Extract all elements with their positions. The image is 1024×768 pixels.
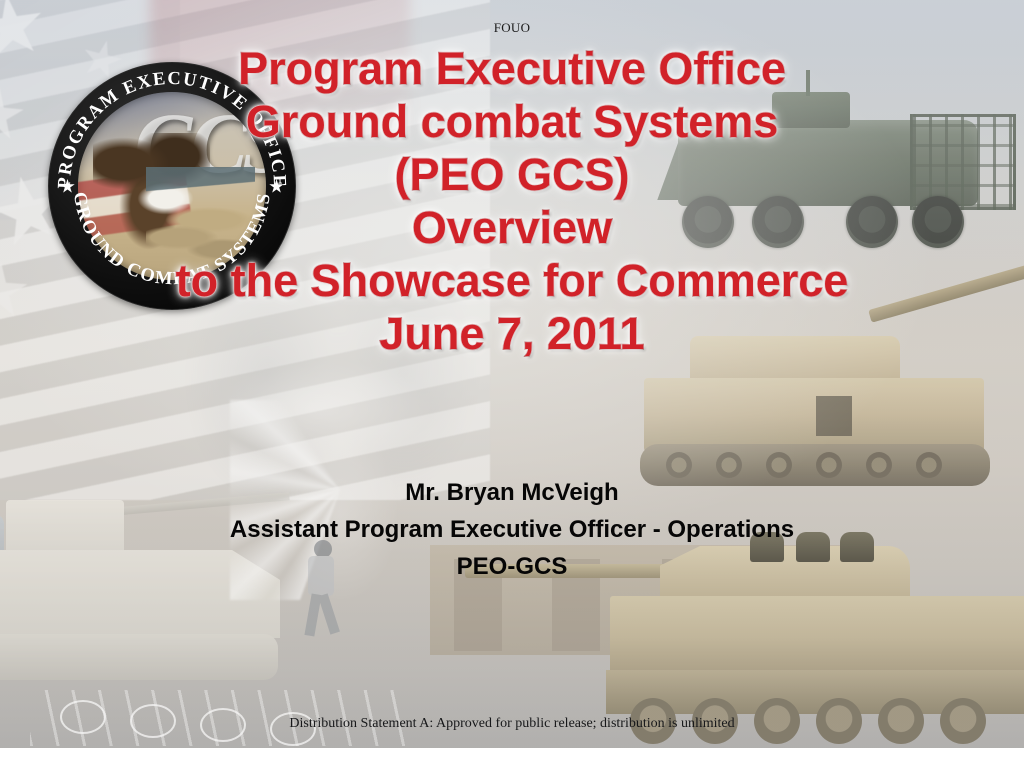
title-line-1: Program Executive Office [0,42,1024,95]
presentation-slide: FOUO GCS PROGRAM EXECUTIVE OFFICE GROUND… [0,0,1024,768]
presenter-organization: PEO-GCS [0,548,1024,585]
classification-marking: FOUO [0,20,1024,36]
presenter-block: Mr. Bryan McVeigh Assistant Program Exec… [0,474,1024,585]
slide-bottom-margin [0,748,1024,768]
title-line-4: Overview [0,201,1024,254]
title-line-6: June 7, 2011 [0,307,1024,360]
slide-title: Program Executive Office Ground combat S… [0,42,1024,360]
presenter-title: Assistant Program Executive Officer - Op… [0,511,1024,548]
title-line-5: to the Showcase for Commerce [0,254,1024,307]
presenter-name: Mr. Bryan McVeigh [0,474,1024,511]
title-line-2: Ground combat Systems [0,95,1024,148]
title-line-3: (PEO GCS) [0,148,1024,201]
distribution-statement: Distribution Statement A: Approved for p… [0,716,1024,732]
